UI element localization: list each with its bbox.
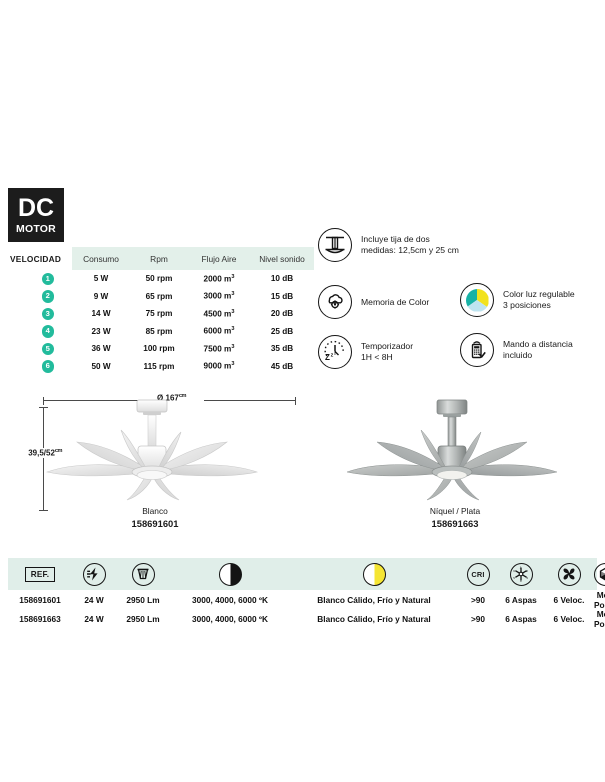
color-wheel-pie xyxy=(466,289,489,312)
speed-badge: 5 xyxy=(42,343,55,356)
svg-text:3: 3 xyxy=(526,576,528,580)
spec-white-tones: Blanco Cálido, Frío y Natural xyxy=(290,614,458,624)
header-material xyxy=(594,563,605,586)
fan-illustration-white xyxy=(5,386,305,506)
spec-speeds: 6 Veloc. xyxy=(544,614,594,624)
spec-white-tones: Blanco Cálido, Frío y Natural xyxy=(290,595,458,605)
spec-row: 15869166324 W2950 Lm3000, 4000, 6000 ºKB… xyxy=(8,609,597,628)
svg-text:z: z xyxy=(334,351,336,356)
speed-data-cell: 5 W50 rpm2000 m310 dB xyxy=(72,274,314,284)
spec-kelvin: 3000, 4000, 6000 ºK xyxy=(170,614,290,624)
header-kelvin xyxy=(170,563,290,586)
speed-row: 650 W115 rpm9000 m345 dB xyxy=(8,358,300,376)
speed-table: VELOCIDAD Consumo Rpm Flujo Aire Nivel s… xyxy=(8,247,300,375)
dc-motor-subtitle: MOTOR xyxy=(16,224,56,235)
cell-consumo: 36 W xyxy=(72,344,130,353)
spec-cri: >90 xyxy=(458,614,498,624)
header-lumen xyxy=(116,563,170,586)
speed-data-cell: 9 W65 rpm3000 m315 dB xyxy=(72,291,314,301)
speed-table-header-band: Consumo Rpm Flujo Aire Nivel sonido xyxy=(72,247,314,270)
ref-label: REF. xyxy=(25,567,56,582)
speed-row: 29 W65 rpm3000 m315 dB xyxy=(8,288,300,306)
header-cri: CRI xyxy=(458,563,498,586)
cell-consumo: 5 W xyxy=(72,274,130,283)
white-tones-icon xyxy=(363,563,386,586)
speed-badge-cell: 2 xyxy=(8,290,72,303)
material-box-icon xyxy=(594,563,605,586)
cell-flujo-value: 2000 m xyxy=(204,275,232,284)
col-header-flujo-aire: Flujo Aire xyxy=(188,254,250,264)
cell-flujo-exponent: 3 xyxy=(231,291,234,297)
speed-badge-cell: 4 xyxy=(8,325,72,338)
dc-motor-title: DC xyxy=(18,196,54,221)
dc-motor-badge: DC MOTOR xyxy=(8,188,64,242)
header-white-tones xyxy=(290,563,458,586)
cell-flujo-value: 3000 m xyxy=(204,292,232,301)
spec-table: REF. xyxy=(8,558,597,628)
spec-power: 24 W xyxy=(72,595,116,605)
cell-sonido: 35 dB xyxy=(250,344,314,353)
col-header-consumo: Consumo xyxy=(72,254,130,264)
cri-label: CRI xyxy=(471,570,484,579)
speed-row: 314 W75 rpm4500 m320 dB xyxy=(8,305,300,323)
speed-badge-cell: 5 xyxy=(8,343,72,356)
feature-downrod-label: Incluye tija de dos medidas: 12,5cm y 25… xyxy=(361,234,459,256)
header-blades: 1 2 3 4 5 6 xyxy=(498,563,544,586)
spec-table-header: REF. xyxy=(8,558,597,590)
cell-flujo-exponent: 3 xyxy=(231,344,234,350)
cell-rpm: 75 rpm xyxy=(130,309,188,318)
spec-row: 15869160124 W2950 Lm3000, 4000, 6000 ºKB… xyxy=(8,590,597,609)
cell-sonido: 10 dB xyxy=(250,274,314,283)
feature-remote-control: Mando a distancia incluido xyxy=(460,333,573,367)
feature-color-memory: Memoria de Color xyxy=(318,285,429,319)
cell-flujo: 3000 m3 xyxy=(188,291,250,301)
cell-consumo: 50 W xyxy=(72,362,130,371)
speed-badge-cell: 6 xyxy=(8,360,72,373)
cell-flujo-exponent: 3 xyxy=(231,361,234,367)
cell-flujo: 4500 m3 xyxy=(188,309,250,319)
speed-row: 15 W50 rpm2000 m310 dB xyxy=(8,270,300,288)
speed-data-cell: 50 W115 rpm9000 m345 dB xyxy=(72,361,314,371)
svg-text:2: 2 xyxy=(526,569,528,573)
speed-badge: 6 xyxy=(42,360,55,373)
speed-badge: 2 xyxy=(42,290,55,303)
cell-flujo-value: 6000 m xyxy=(204,327,232,336)
cell-sonido: 25 dB xyxy=(250,327,314,336)
speed-badge: 4 xyxy=(42,325,55,338)
fan-ref-white: 158691601 xyxy=(5,518,305,529)
timer-icon: Z z z xyxy=(318,335,352,369)
col-header-nivel-sonido: Nivel sonido xyxy=(250,254,314,264)
blades-count-icon: 1 2 3 4 5 6 xyxy=(510,563,533,586)
header-speeds xyxy=(544,563,594,586)
cell-flujo: 7500 m3 xyxy=(188,344,250,354)
fan-illustration-nickel xyxy=(305,386,605,506)
spec-material: Metal / ABS / Policarbonato xyxy=(594,590,605,610)
cell-flujo: 6000 m3 xyxy=(188,326,250,336)
fan-diagram-white: Blanco 158691601 xyxy=(5,386,305,536)
cell-rpm: 100 rpm xyxy=(130,344,188,353)
fan-ref-nickel: 158691663 xyxy=(305,518,605,529)
speed-badge-cell: 1 xyxy=(8,273,72,286)
speed-badge: 3 xyxy=(42,308,55,321)
product-spec-sheet: DC MOTOR VELOCIDAD Consumo Rpm Flujo Air… xyxy=(0,0,605,782)
speed-row: 423 W85 rpm6000 m325 dB xyxy=(8,323,300,341)
cell-flujo-value: 4500 m xyxy=(204,310,232,319)
power-icon xyxy=(83,563,106,586)
spec-kelvin: 3000, 4000, 6000 ºK xyxy=(170,595,290,605)
feature-color-memory-label: Memoria de Color xyxy=(361,297,429,308)
feature-color-temperature: Color luz regulable 3 posiciones xyxy=(460,283,575,317)
color-wheel-icon xyxy=(460,283,494,317)
speed-column-header: VELOCIDAD xyxy=(8,254,72,264)
speed-table-header: VELOCIDAD Consumo Rpm Flujo Aire Nivel s… xyxy=(8,247,300,270)
fan-name-nickel: Níquel / Plata xyxy=(305,506,605,516)
spec-power: 24 W xyxy=(72,614,116,624)
cell-rpm: 85 rpm xyxy=(130,327,188,336)
downrod-icon xyxy=(318,228,352,262)
header-power xyxy=(72,563,116,586)
cell-flujo-value: 7500 m xyxy=(204,345,232,354)
feature-timer-label: Temporizador 1H < 8H xyxy=(361,341,413,363)
speed-badge: 1 xyxy=(42,273,55,286)
feature-downrod: Incluye tija de dos medidas: 12,5cm y 25… xyxy=(318,228,459,262)
cell-flujo: 2000 m3 xyxy=(188,274,250,284)
remote-control-icon xyxy=(460,333,494,367)
feature-timer: Z z z Temporizador 1H < 8H xyxy=(318,335,413,369)
kelvin-icon xyxy=(219,563,242,586)
fan-speed-icon xyxy=(558,563,581,586)
fan-caption-white: Blanco 158691601 xyxy=(5,506,305,529)
spec-material: Metal / ABS / Policarbonato xyxy=(594,609,605,629)
feature-color-temperature-label: Color luz regulable 3 posiciones xyxy=(503,289,575,311)
cell-consumo: 23 W xyxy=(72,327,130,336)
spec-speeds: 6 Veloc. xyxy=(544,595,594,605)
spec-ref: 158691663 xyxy=(8,614,72,624)
cell-sonido: 20 dB xyxy=(250,309,314,318)
speed-data-cell: 14 W75 rpm4500 m320 dB xyxy=(72,309,314,319)
header-ref: REF. xyxy=(8,567,72,582)
cell-rpm: 65 rpm xyxy=(130,292,188,301)
fan-name-white: Blanco xyxy=(5,506,305,516)
spec-lumen: 2950 Lm xyxy=(116,614,170,624)
cell-flujo-value: 9000 m xyxy=(204,362,232,371)
svg-text:Z: Z xyxy=(325,353,330,362)
cell-rpm: 50 rpm xyxy=(130,274,188,283)
cell-flujo-exponent: 3 xyxy=(231,326,234,332)
spec-lumen: 2950 Lm xyxy=(116,595,170,605)
cell-rpm: 115 rpm xyxy=(130,362,188,371)
spec-ref: 158691601 xyxy=(8,595,72,605)
cell-sonido: 45 dB xyxy=(250,362,314,371)
speed-data-cell: 36 W100 rpm7500 m335 dB xyxy=(72,344,314,354)
cell-sonido: 15 dB xyxy=(250,292,314,301)
spec-blades: 6 Aspas xyxy=(498,614,544,624)
speed-data-cell: 23 W85 rpm6000 m325 dB xyxy=(72,326,314,336)
cell-flujo-exponent: 3 xyxy=(231,274,234,280)
svg-text:6: 6 xyxy=(513,569,515,573)
cell-flujo: 9000 m3 xyxy=(188,361,250,371)
color-memory-icon xyxy=(318,285,352,319)
speed-row: 536 W100 rpm7500 m335 dB xyxy=(8,340,300,358)
cri-icon: CRI xyxy=(467,563,490,586)
speed-badge-cell: 3 xyxy=(8,308,72,321)
fan-diagram-nickel: Níquel / Plata 158691663 xyxy=(305,386,605,536)
cell-flujo-exponent: 3 xyxy=(231,309,234,315)
fan-caption-nickel: Níquel / Plata 158691663 xyxy=(305,506,605,529)
cell-consumo: 14 W xyxy=(72,309,130,318)
svg-text:5: 5 xyxy=(513,576,515,580)
spec-cri: >90 xyxy=(458,595,498,605)
lumen-icon xyxy=(132,563,155,586)
feature-remote-control-label: Mando a distancia incluido xyxy=(503,339,573,361)
spec-blades: 6 Aspas xyxy=(498,595,544,605)
cell-consumo: 9 W xyxy=(72,292,130,301)
fan-diagrams: Blanco 158691601 xyxy=(0,386,605,536)
col-header-rpm: Rpm xyxy=(130,254,188,264)
